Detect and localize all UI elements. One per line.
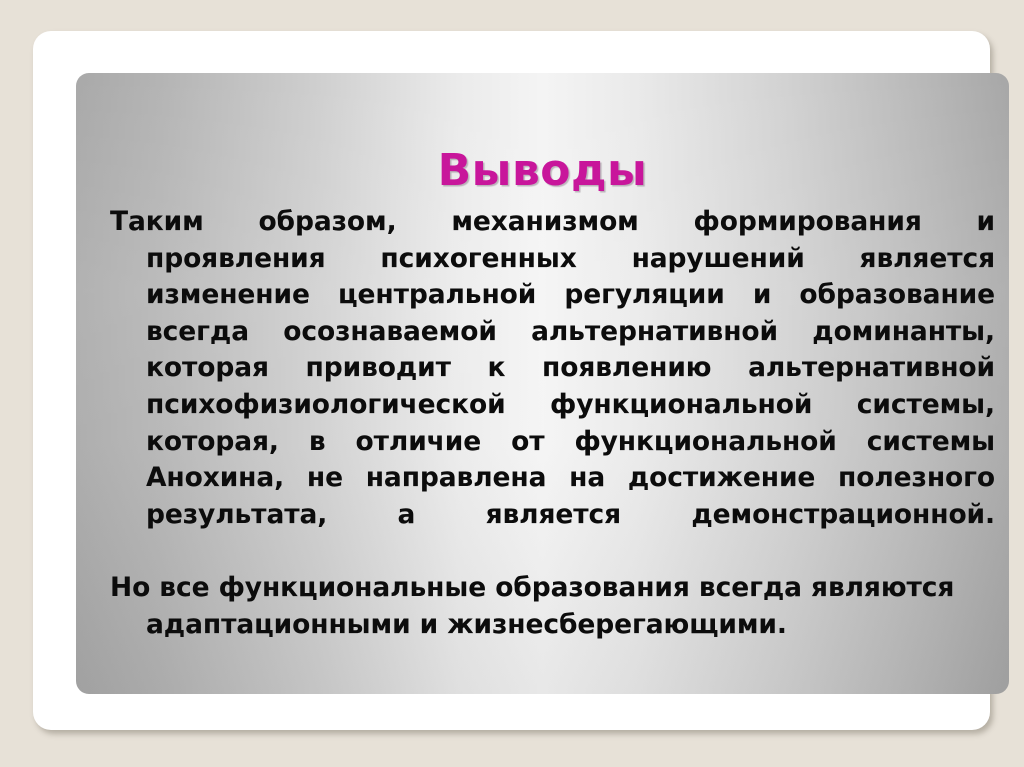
body-paragraph-1-text: Таким образом, механизмом формирования и…	[110, 206, 995, 530]
slide-content-panel: Выводы Таким образом, механизмом формиро…	[76, 73, 1009, 694]
body-paragraph-2: Но все функциональные образования всегда…	[110, 570, 995, 643]
slide-body: Таким образом, механизмом формирования и…	[110, 204, 995, 643]
slide-stage: Выводы Таким образом, механизмом формиро…	[0, 0, 1024, 767]
page-title: Выводы	[76, 149, 1009, 193]
slide-card: Выводы Таким образом, механизмом формиро…	[33, 31, 990, 730]
body-paragraph-1: Таким образом, механизмом формирования и…	[110, 204, 995, 570]
